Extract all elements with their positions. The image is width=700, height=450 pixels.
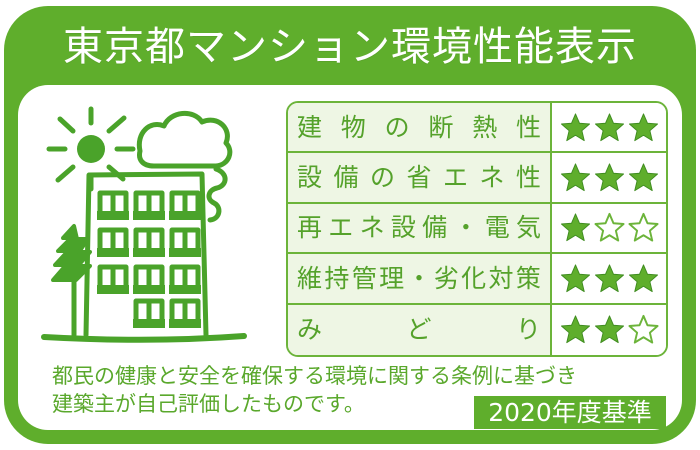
header-band: 東京都マンション環境性能表示 [4,6,696,88]
star-filled-icon [628,112,659,143]
status-badge: 2020年度基準 [474,396,666,429]
label-char: ネ [479,165,504,190]
environmental-performance-label: 東京都マンション環境性能表示 [4,6,696,444]
rating-stars-1 [552,153,666,201]
rating-stars-2 [552,204,666,252]
label-char: 理 [379,266,404,291]
label-char: の [370,165,395,190]
apartment-building-icon [86,174,206,335]
label-char: 備 [333,165,358,190]
footer-line-2: 建築主が自己評価したものです。 [52,390,512,418]
rating-label-4: み ど り [288,305,552,355]
table-row: 設 備 の 省 エ ネ 性 [288,153,666,203]
star-filled-icon [594,112,625,143]
label-char: 設 [391,215,416,240]
label-char: 物 [341,115,366,140]
label-char: 断 [428,115,453,140]
star-filled-icon [628,162,659,193]
star-filled-icon [560,112,591,143]
page-title: 東京都マンション環境性能表示 [63,27,637,67]
star-filled-icon [560,314,591,345]
star-filled-icon [594,162,625,193]
label-char: 化 [461,266,486,291]
table-row: 建 物 の 断 熱 性 [288,103,666,153]
label-char: 管 [352,266,377,291]
eco-apartment-illustration [30,93,282,355]
label-char: 性 [516,115,541,140]
label-char: エ [443,165,468,190]
table-row: 維 持 管 理 ・ 劣 化 対 策 [288,254,666,304]
label-char: ・ [453,215,478,240]
table-row: 再 エ ネ 設 備 ・ 電 気 [288,204,666,254]
footer-line-1: 都民の健康と安全を確保する環境に関する条例に基づき [52,362,512,390]
label-char: 設 [297,165,322,190]
rating-label-2: 再 エ ネ 設 備 ・ 電 気 [288,204,552,252]
rating-label-0: 建 物 の 断 熱 性 [288,103,552,151]
label-char: 策 [516,266,541,291]
label-char: 気 [516,215,541,240]
rating-label-3: 維 持 管 理 ・ 劣 化 対 策 [288,254,552,302]
footer-note: 都民の健康と安全を確保する環境に関する条例に基づき 建築主が自己評価したものです… [52,362,512,419]
label-char: 備 [422,215,447,240]
label-char: ど [406,317,431,342]
table-row: み ど り [288,305,666,355]
label-char: の [385,115,410,140]
star-filled-icon [628,263,659,294]
label-char: エ [328,215,353,240]
star-filled-icon [560,263,591,294]
label-char: 電 [485,215,510,240]
label-char: 維 [297,266,322,291]
rating-label-1: 設 備 の 省 エ ネ 性 [288,153,552,201]
star-empty-icon [628,212,659,243]
label-char: 熱 [472,115,497,140]
label-char: ネ [360,215,385,240]
label-char: 持 [324,266,349,291]
rating-stars-0 [552,103,666,151]
ratings-table: 建 物 の 断 熱 性 設 備 の 省 エ ネ 性 [286,101,668,357]
ground-line [44,336,244,340]
label-char: 再 [297,215,322,240]
star-empty-icon [628,314,659,345]
label-char: 対 [489,266,514,291]
label-char: 劣 [434,266,459,291]
label-char: ・ [406,266,431,291]
label-char: 建 [297,115,322,140]
rating-stars-3 [552,254,666,302]
label-char: み [297,317,322,342]
rating-stars-4 [552,305,666,355]
inner-panel: 建 物 の 断 熱 性 設 備 の 省 エ ネ 性 [18,85,682,430]
star-filled-icon [594,263,625,294]
label-char: り [516,317,541,342]
label-char: 省 [406,165,431,190]
star-filled-icon [560,162,591,193]
star-empty-icon [594,212,625,243]
star-filled-icon [594,314,625,345]
star-filled-icon [560,212,591,243]
label-char: 性 [516,165,541,190]
